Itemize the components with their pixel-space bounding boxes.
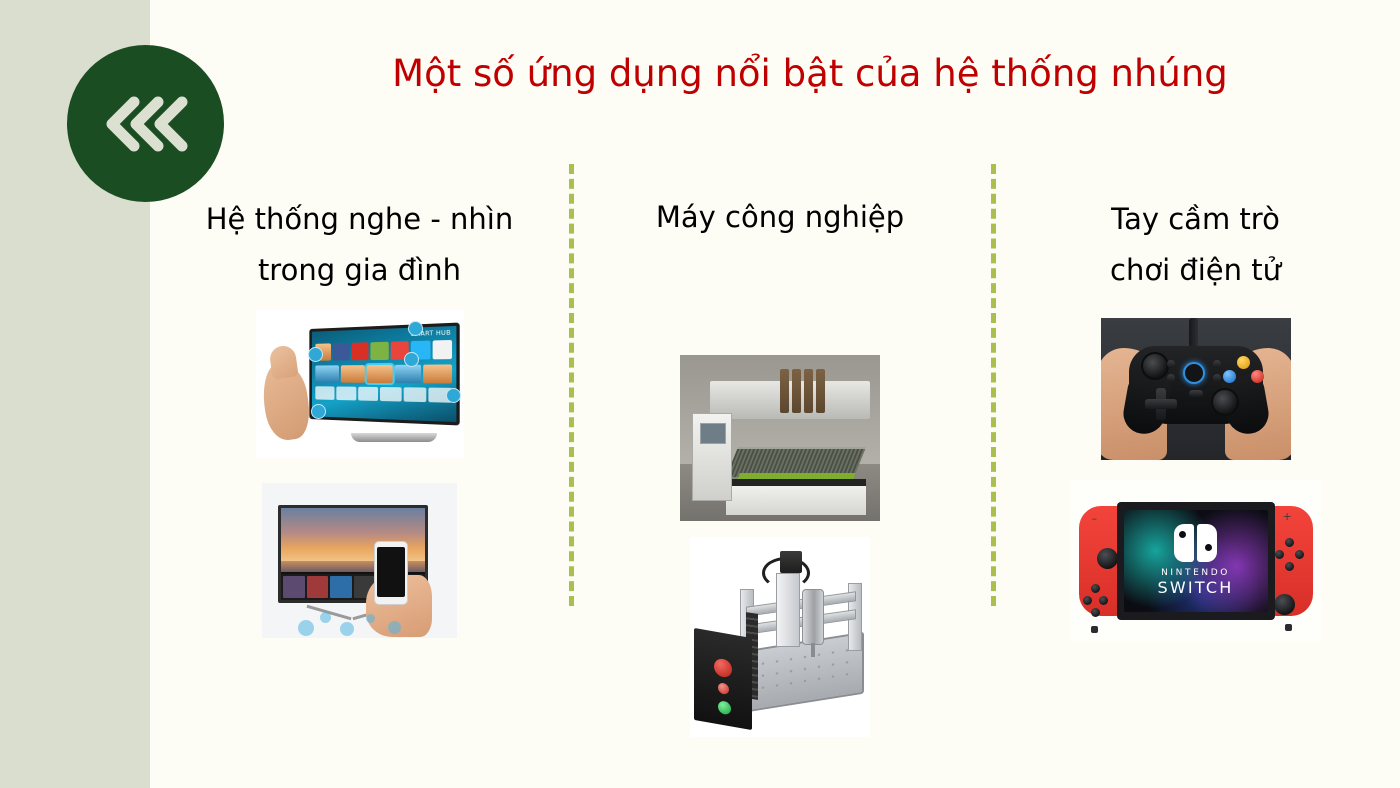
- page-title: Một số ứng dụng nổi bật của hệ thống nhú…: [240, 52, 1380, 96]
- tv-stand: [351, 433, 437, 442]
- callout-dot: [404, 352, 419, 367]
- dpad[interactable]: [1145, 388, 1177, 420]
- joycon-right-stick[interactable]: [1274, 594, 1295, 615]
- bubble: [298, 620, 314, 636]
- bubble: [340, 622, 354, 636]
- logo-right-joycon-mark: [1197, 524, 1217, 562]
- right-analog-stick[interactable]: [1211, 388, 1239, 416]
- home-button[interactable]: [1285, 624, 1292, 631]
- cnc-spindle-head: [816, 369, 825, 413]
- tv-app-row-3: [315, 386, 452, 402]
- content-columns: Hệ thống nghe - nhìn trong gia đình SMAR…: [150, 180, 1400, 740]
- tv-app-tile: [394, 364, 421, 383]
- face-button-red[interactable]: [1251, 370, 1264, 383]
- controller-cable: [1189, 318, 1198, 348]
- column-home-av: Hệ thống nghe - nhìn trong gia đình SMAR…: [150, 180, 569, 740]
- smart-tv-gesture-control-photo: SMART HUB: [256, 310, 464, 458]
- content-card: [330, 576, 352, 598]
- industrial-cnc-machine-photo: [680, 355, 880, 521]
- cnc-spindle-head: [780, 369, 789, 413]
- tv-app-tile: [432, 339, 452, 358]
- stop-button[interactable]: [718, 682, 729, 695]
- column-1-heading-line1: Hệ thống nghe - nhìn: [206, 194, 513, 245]
- bubble-decoration: [292, 606, 432, 636]
- switch-screen-bezel: NINTENDO SWITCH: [1117, 502, 1275, 620]
- column-1-heading-line2: trong gia đình: [206, 245, 513, 296]
- tv-app-icon: [315, 386, 334, 400]
- cnc-spindle-head: [804, 369, 813, 413]
- back-badge-button[interactable]: [67, 45, 224, 202]
- small-button[interactable]: [1167, 374, 1175, 382]
- callout-dot: [446, 388, 461, 403]
- left-analog-stick[interactable]: [1141, 352, 1169, 380]
- tv-app-icon: [336, 386, 356, 400]
- column-3-heading: Tay cầm trò chơi điện tử: [1106, 194, 1285, 296]
- desktop-cnc-router-photo: [690, 537, 870, 737]
- router-spindle: [802, 589, 824, 645]
- home-button-led[interactable]: [1183, 362, 1205, 384]
- switch-brand-line2: SWITCH: [1158, 578, 1234, 597]
- tv-app-icon: [380, 387, 402, 402]
- small-button[interactable]: [1167, 360, 1175, 368]
- content-card: [307, 576, 329, 598]
- phone-screen: [377, 547, 405, 597]
- router-control-box: [694, 628, 752, 730]
- game-controller-in-hands-photo: [1101, 318, 1291, 460]
- double-chevron-left-icon: [100, 93, 192, 155]
- column-game-controller: Tay cầm trò chơi điện tử: [991, 180, 1400, 740]
- joycon-dpad-up[interactable]: [1091, 584, 1100, 593]
- callout-dot: [408, 321, 423, 336]
- column-2-heading: Máy công nghiệp: [652, 192, 908, 243]
- cnc-control-screen: [700, 423, 726, 444]
- plus-icon: +: [1283, 510, 1292, 523]
- smartphone-remote: [374, 541, 408, 605]
- tv-app-tile: [315, 365, 338, 382]
- right-joycon: +: [1271, 506, 1313, 616]
- logo-left-joycon-mark: [1174, 524, 1194, 562]
- small-button[interactable]: [1213, 374, 1221, 382]
- small-button[interactable]: [1213, 360, 1221, 368]
- face-button-blue[interactable]: [1223, 370, 1236, 383]
- button-b[interactable]: [1285, 562, 1294, 571]
- button-x[interactable]: [1285, 538, 1294, 547]
- left-joycon: –: [1079, 506, 1121, 616]
- callout-dot: [311, 404, 326, 419]
- callout-dot: [308, 347, 323, 362]
- slide-canvas: Một số ứng dụng nổi bật của hệ thống nhú…: [0, 0, 1400, 788]
- joycon-left-stick[interactable]: [1097, 548, 1118, 569]
- select-button[interactable]: [1189, 390, 1203, 397]
- tv-app-icon: [357, 386, 378, 400]
- column-2-figures: [569, 243, 991, 737]
- button-y[interactable]: [1275, 550, 1284, 559]
- column-industrial: Máy công nghiệp: [569, 180, 991, 740]
- column-1-figures: SMART HUB: [150, 296, 569, 638]
- cnc-spindle-head: [792, 369, 801, 413]
- tv-app-tile: [351, 342, 368, 360]
- column-1-heading: Hệ thống nghe - nhìn trong gia đình: [202, 194, 517, 296]
- tv-app-tile: [370, 341, 388, 359]
- start-button[interactable]: [718, 700, 731, 715]
- tv-app-row-2: [315, 364, 452, 383]
- tv-app-tile: [340, 365, 364, 383]
- tv-app-row-1: [315, 339, 452, 360]
- face-button-yellow[interactable]: [1237, 356, 1250, 369]
- cnc-machine-base: [726, 479, 866, 515]
- column-3-heading-line1: Tay cầm trò: [1110, 194, 1281, 245]
- bubble: [320, 612, 331, 623]
- minus-icon: –: [1092, 512, 1098, 525]
- column-2-heading-line1: Máy công nghiệp: [656, 192, 904, 243]
- joycon-dpad-down[interactable]: [1091, 608, 1100, 617]
- column-3-figures: – +: [991, 296, 1400, 642]
- smart-tv-phone-remote-photo: [262, 483, 457, 638]
- gesture-hand: [258, 359, 312, 442]
- tv-app-tile: [423, 364, 451, 383]
- bubble: [366, 614, 375, 623]
- joycon-dpad-right[interactable]: [1099, 596, 1108, 605]
- tv-app-icon: [403, 387, 425, 402]
- column-3-heading-line2: chơi điện tử: [1110, 245, 1281, 296]
- nintendo-switch-console-photo: – +: [1071, 480, 1321, 642]
- cnc-gantry: [710, 381, 870, 419]
- content-card: [283, 576, 305, 598]
- router-bit: [811, 643, 815, 657]
- tv-app-tile: [333, 342, 350, 360]
- tv-app-tile-selected: [366, 364, 392, 382]
- bubble: [388, 621, 401, 634]
- capture-button[interactable]: [1091, 626, 1098, 633]
- joycon-dpad-left[interactable]: [1083, 596, 1092, 605]
- emergency-stop-button[interactable]: [714, 657, 732, 678]
- nintendo-switch-logo-icon: [1174, 524, 1217, 562]
- button-a[interactable]: [1295, 550, 1304, 559]
- switch-brand-line1: NINTENDO: [1161, 568, 1230, 578]
- router-stepper-motor: [780, 551, 802, 573]
- cnc-control-cabinet: [692, 413, 732, 501]
- switch-screen: NINTENDO SWITCH: [1124, 510, 1268, 612]
- tv-screen: SMART HUB: [309, 322, 459, 425]
